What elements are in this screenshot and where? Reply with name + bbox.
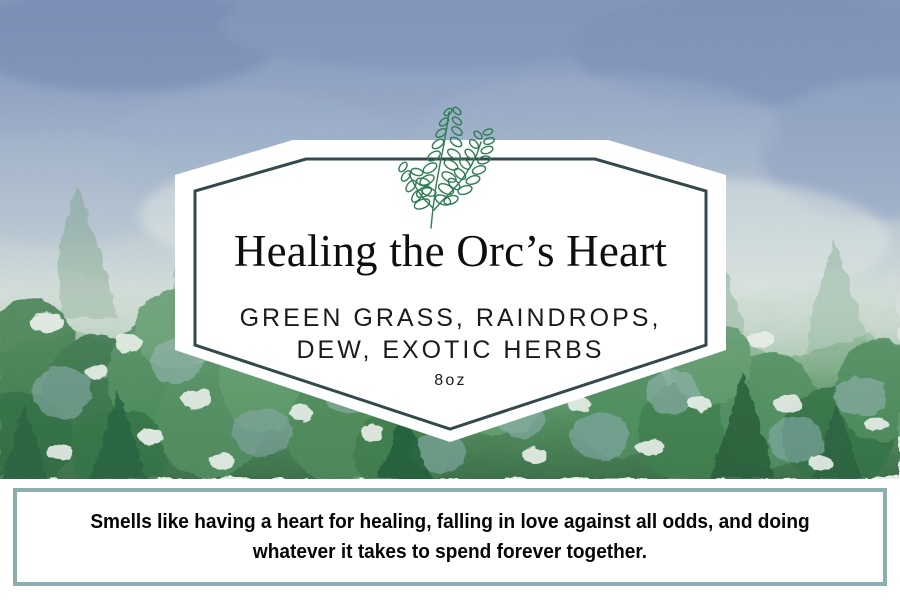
hexagon-label: Healing the Orc’s Heart GREEN GRASS, RAI…: [175, 140, 726, 442]
caption-text: Smells like having a heart for healing, …: [83, 507, 818, 567]
product-size: 8oz: [175, 372, 726, 390]
caption-box: Smells like having a heart for healing, …: [13, 488, 887, 586]
product-label-graphic: Healing the Orc’s Heart GREEN GRASS, RAI…: [0, 0, 900, 600]
scent-notes: GREEN GRASS, RAINDROPS, DEW, EXOTIC HERB…: [195, 302, 706, 366]
scent-notes-line-1: GREEN GRASS, RAINDROPS,: [195, 302, 706, 334]
scent-notes-line-2: DEW, EXOTIC HERBS: [195, 334, 706, 366]
product-title: Healing the Orc’s Heart: [175, 226, 726, 276]
herb-sprig-icon: [391, 100, 511, 230]
